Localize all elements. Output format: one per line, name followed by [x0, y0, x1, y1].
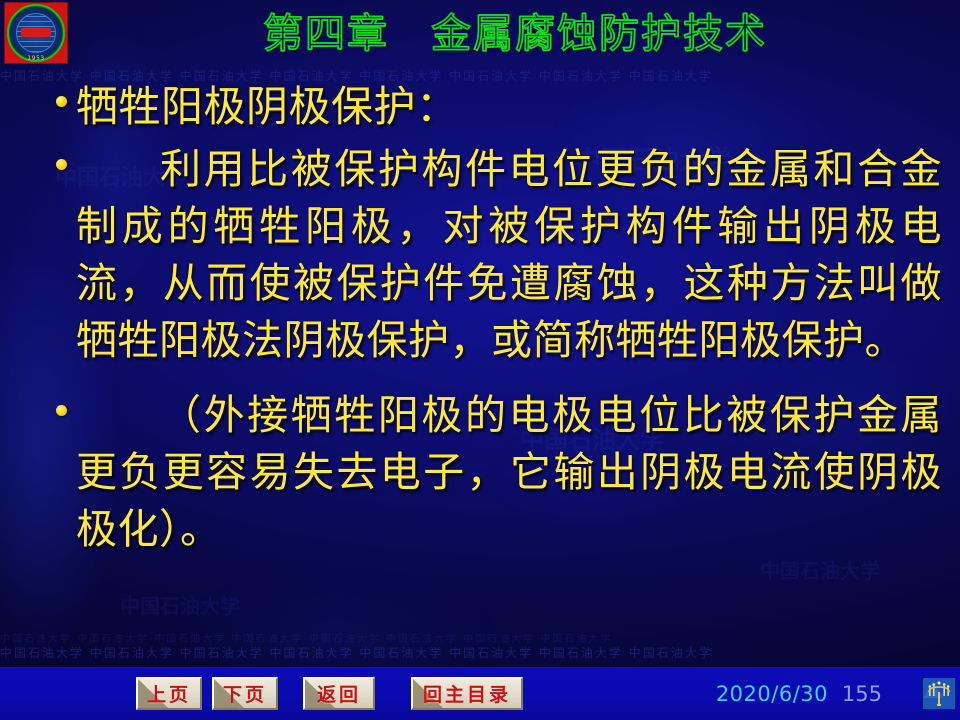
bullet-marker-icon	[46, 141, 76, 170]
next-page-label: 下页	[223, 680, 267, 707]
bullet-paragraph: （外接牺牲阳极的电极电位比被保护金属更负更容易失去电子，它输出阴极电流使阴极极化…	[46, 387, 942, 558]
main-menu-button[interactable]: 回主目录	[411, 677, 523, 710]
logo-year: 1953	[5, 55, 67, 62]
previous-page-label: 上页	[147, 680, 191, 707]
paragraph-text: 利用比被保护构件电位更负的金属和合金制成的牺牲阳极，对被保护构件输出阴极电流，从…	[76, 141, 942, 369]
page-title: 第四章 金属腐蚀防护技术	[70, 6, 960, 62]
paragraph-text-inner: （外接牺牲阳极的电极电位比被保护金属更负更容易失去电子，它输出阴极电流使阴极极化…	[76, 391, 942, 553]
next-page-button[interactable]: 下页	[212, 677, 278, 710]
university-logo: 1953	[4, 2, 68, 64]
paragraph-text: 牺牲阳极阴极保护：	[76, 78, 942, 135]
footer-date: 2020/6/30	[716, 682, 828, 706]
main-menu-label: 回主目录	[423, 680, 511, 707]
back-label: 返回	[317, 680, 361, 707]
paragraph-text: （外接牺牲阳极的电极电位比被保护金属更负更容易失去电子，它输出阴极电流使阴极极化…	[76, 387, 942, 558]
bullet-marker-icon	[46, 78, 76, 107]
bullet-paragraph: 利用比被保护构件电位更负的金属和合金制成的牺牲阳极，对被保护构件输出阴极电流，从…	[46, 141, 942, 369]
slide-body: 牺牲阳极阴极保护： 利用比被保护构件电位更负的金属和合金制成的牺牲阳极，对被保护…	[0, 78, 960, 648]
page-number: 155	[842, 682, 882, 706]
back-button[interactable]: 返回	[303, 677, 375, 710]
logo-emblem-icon	[7, 4, 65, 62]
slide: 中国石油大学 中国石油大学 中国石油大学 中国石油大学 中国石油大学 中国石油大…	[0, 0, 960, 720]
paragraph-text-inner: 利用比被保护构件电位更负的金属和合金制成的牺牲阳极，对被保护构件输出阴极电流，从…	[76, 145, 942, 364]
previous-page-button[interactable]: 上页	[136, 677, 202, 710]
bullet-marker-icon	[46, 387, 76, 416]
bullet-paragraph: 牺牲阳极阴极保护：	[46, 78, 942, 135]
slide-footer: 上页 下页 返回 回主目录 2020/6/30 155	[0, 667, 960, 720]
slide-header: 1953 第四章 金属腐蚀防护技术	[0, 0, 960, 68]
candelabra-icon[interactable]	[922, 677, 956, 710]
